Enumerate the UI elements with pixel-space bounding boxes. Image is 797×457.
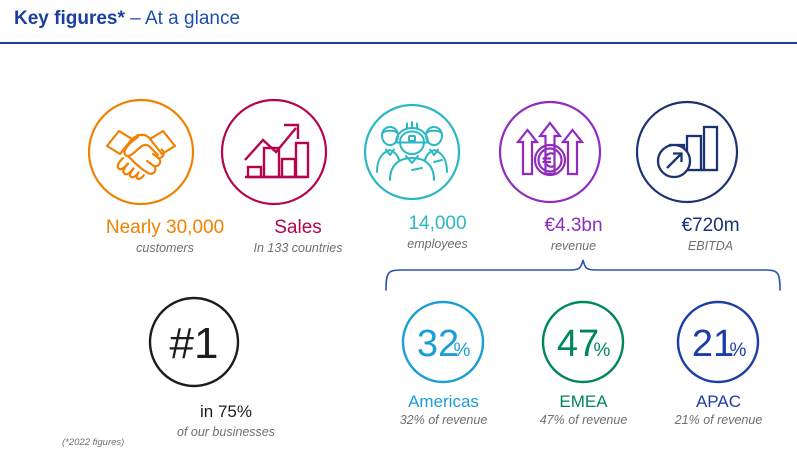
stat-rank-value-row: in 75% of our businesses: [146, 400, 306, 440]
rank-badge-text: #1: [170, 319, 219, 368]
apac-percent-sign: %: [730, 340, 747, 361]
stat-sales: Sales In 133 countries: [218, 96, 378, 256]
emea-percent-sign: %: [594, 340, 611, 361]
stat-employees-value-row: 14,000 employees: [360, 212, 515, 252]
stat-sales-value-row: Sales In 133 countries: [218, 216, 378, 256]
stat-employees-sub: employees: [360, 236, 515, 252]
stat-rank-value: in 75%: [146, 400, 306, 424]
apac-percent-number: 21: [692, 323, 734, 365]
stat-sales-sub: In 133 countries: [218, 240, 378, 256]
stat-ebitda-value-row: €720m EBITDA: [633, 214, 788, 254]
apac-sub: 21% of revenue: [651, 412, 786, 428]
rank-badge-circle: #1: [146, 294, 306, 390]
stat-employees: 14,000 employees: [360, 100, 515, 252]
handshake-icon: [85, 96, 197, 208]
page-title: Key figures* – At a glance: [14, 6, 240, 32]
euro-growth-arrows-icon: [496, 98, 604, 206]
apac-percent-circle: 21 %: [651, 300, 786, 384]
emea-percent-circle: 47 %: [516, 300, 651, 384]
stat-ebitda-sub: EBITDA: [633, 238, 788, 254]
emea-sub: 47% of revenue: [516, 412, 651, 428]
bar-chart-arrow-icon: [218, 96, 330, 208]
stat-revenue-value: €4.3bn: [496, 214, 651, 238]
euro-growth-arrows-icon-circle: [496, 98, 651, 206]
americas-name: Americas: [376, 392, 511, 412]
bar-chart-magnifier-icon-circle: [633, 98, 788, 206]
stat-sales-value: Sales: [218, 216, 378, 240]
stat-ebitda-value: €720m: [633, 214, 788, 238]
stat-rank: #1 in 75% of our businesses: [146, 294, 306, 440]
bar-chart-arrow-icon-circle: [218, 96, 378, 208]
stat-revenue-value-row: €4.3bn revenue: [496, 214, 651, 254]
slide-header: Key figures* – At a glance: [0, 0, 797, 46]
people-group-icon-circle: [360, 100, 515, 204]
emea-name: EMEA: [516, 392, 651, 412]
footnote: (*2022 figures): [62, 437, 124, 448]
region-apac: 21 % APAC 21% of revenue: [651, 300, 786, 428]
slide-canvas: Key figures* – At a glance: [0, 0, 797, 457]
header-divider: [0, 42, 797, 44]
region-americas: 32 % Americas 32% of revenue: [376, 300, 511, 428]
americas-percent-sign: %: [454, 340, 471, 361]
stat-rank-sub: of our businesses: [146, 424, 306, 440]
stat-revenue-sub: revenue: [496, 238, 651, 254]
apac-name: APAC: [651, 392, 786, 412]
americas-percent-circle: 32 %: [376, 300, 511, 384]
people-group-icon: [360, 100, 464, 204]
region-grouping-brace: [384, 258, 784, 292]
americas-sub: 32% of revenue: [376, 412, 511, 428]
page-title-bold: Key figures*: [14, 8, 125, 29]
rank-number-one-icon: #1: [146, 294, 242, 390]
page-title-light: – At a glance: [125, 8, 240, 29]
region-emea: 47 % EMEA 47% of revenue: [516, 300, 651, 428]
stat-employees-value: 14,000: [360, 212, 515, 236]
bar-chart-magnifier-icon: [633, 98, 741, 206]
stat-ebitda: €720m EBITDA: [633, 98, 788, 254]
stat-revenue: €4.3bn revenue: [496, 98, 651, 254]
